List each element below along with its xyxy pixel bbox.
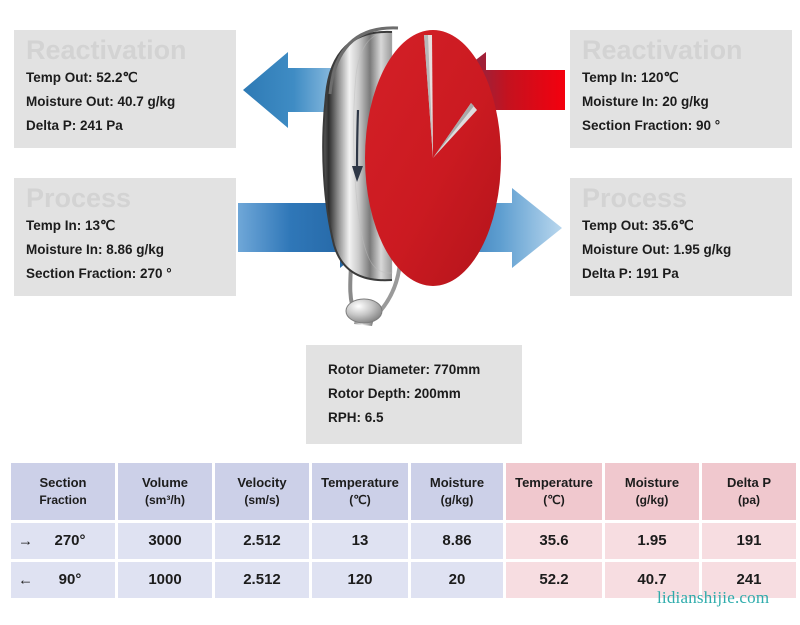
cell-moisture-in: 8.86 <box>411 523 503 559</box>
cell-moisture-in: 20 <box>411 562 503 598</box>
rotor-drum <box>323 28 398 280</box>
cell-volume: 1000 <box>118 562 212 598</box>
col-header-section-fraction: Section Fraction <box>11 463 115 520</box>
process-section-fraction: Section Fraction: 270 ° <box>26 262 224 286</box>
reactivation-delta-p: Delta P: 241 Pa <box>26 114 224 138</box>
col-header-temperature-out: Temperature (℃) <box>506 463 602 520</box>
rotor-support <box>346 250 400 326</box>
section-fraction-value: 270° <box>40 530 85 551</box>
cell-temperature-out: 35.6 <box>506 523 602 559</box>
col-header-velocity: Velocity (sm/s) <box>215 463 309 520</box>
flow-direction-icon: ← <box>18 569 33 590</box>
cell-volume: 3000 <box>118 523 212 559</box>
panel-ghost-title: Reactivation <box>582 36 780 64</box>
panel-process-in: Process Temp In: 13℃ Moisture In: 8.86 g… <box>14 178 236 296</box>
rotor-depth: Rotor Depth: 200mm <box>328 382 504 406</box>
process-temp-in: Temp In: 13℃ <box>26 214 224 238</box>
cell-section-fraction: ← 90° <box>11 562 115 598</box>
reactivation-section-fraction: Section Fraction: 90 ° <box>582 114 780 138</box>
table-row: → 270° 3000 2.512 13 8.86 35.6 1.95 191 <box>11 523 796 559</box>
performance-table: Section Fraction Volume (sm³/h) Velocity… <box>8 460 799 601</box>
cell-velocity: 2.512 <box>215 562 309 598</box>
cell-section-fraction: → 270° <box>11 523 115 559</box>
cell-moisture-out: 1.95 <box>605 523 699 559</box>
rotation-direction-arrow <box>352 110 363 182</box>
cell-temperature-in: 13 <box>312 523 408 559</box>
table-header-row: Section Fraction Volume (sm³/h) Velocity… <box>11 463 796 520</box>
reactivation-moisture-out: Moisture Out: 40.7 g/kg <box>26 90 224 114</box>
panel-ghost-title: Process <box>582 184 780 212</box>
rotor-face <box>365 30 501 286</box>
process-in-arrow <box>238 188 388 268</box>
rotor-diameter: Rotor Diameter: 770mm <box>328 358 504 382</box>
cell-delta-p: 191 <box>702 523 796 559</box>
reactivation-in-arrow <box>437 52 565 128</box>
process-delta-p: Delta P: 191 Pa <box>582 262 780 286</box>
cell-velocity: 2.512 <box>215 523 309 559</box>
section-fraction-value: 90° <box>45 569 82 590</box>
col-header-moisture-out: Moisture (g/kg) <box>605 463 699 520</box>
process-moisture-in: Moisture In: 8.86 g/kg <box>26 238 224 262</box>
panel-rotor-specs: Rotor Diameter: 770mm Rotor Depth: 200mm… <box>306 345 522 444</box>
col-header-delta-p: Delta P (pa) <box>702 463 796 520</box>
flow-direction-icon: → <box>18 530 33 551</box>
reactivation-temp-in: Temp In: 120℃ <box>582 66 780 90</box>
process-out-arrow <box>425 188 562 268</box>
rotor-rph: RPH: 6.5 <box>328 406 504 430</box>
reactivation-moisture-in: Moisture In: 20 g/kg <box>582 90 780 114</box>
col-header-moisture-in: Moisture (g/kg) <box>411 463 503 520</box>
site-watermark: lidianshijie.com <box>657 588 769 608</box>
reactivation-temp-out: Temp Out: 52.2℃ <box>26 66 224 90</box>
panel-reactivation-out: Reactivation Temp Out: 52.2℃ Moisture Ou… <box>14 30 236 148</box>
col-header-temperature-in: Temperature (℃) <box>312 463 408 520</box>
process-moisture-out: Moisture Out: 1.95 g/kg <box>582 238 780 262</box>
col-header-volume: Volume (sm³/h) <box>118 463 212 520</box>
cell-temperature-in: 120 <box>312 562 408 598</box>
process-temp-out: Temp Out: 35.6℃ <box>582 214 780 238</box>
panel-ghost-title: Reactivation <box>26 36 224 64</box>
reactivation-out-arrow <box>243 52 345 128</box>
panel-ghost-title: Process <box>26 184 224 212</box>
panel-process-out: Process Temp Out: 35.6℃ Moisture Out: 1.… <box>570 178 792 296</box>
panel-reactivation-in: Reactivation Temp In: 120℃ Moisture In: … <box>570 30 792 148</box>
cell-temperature-out: 52.2 <box>506 562 602 598</box>
